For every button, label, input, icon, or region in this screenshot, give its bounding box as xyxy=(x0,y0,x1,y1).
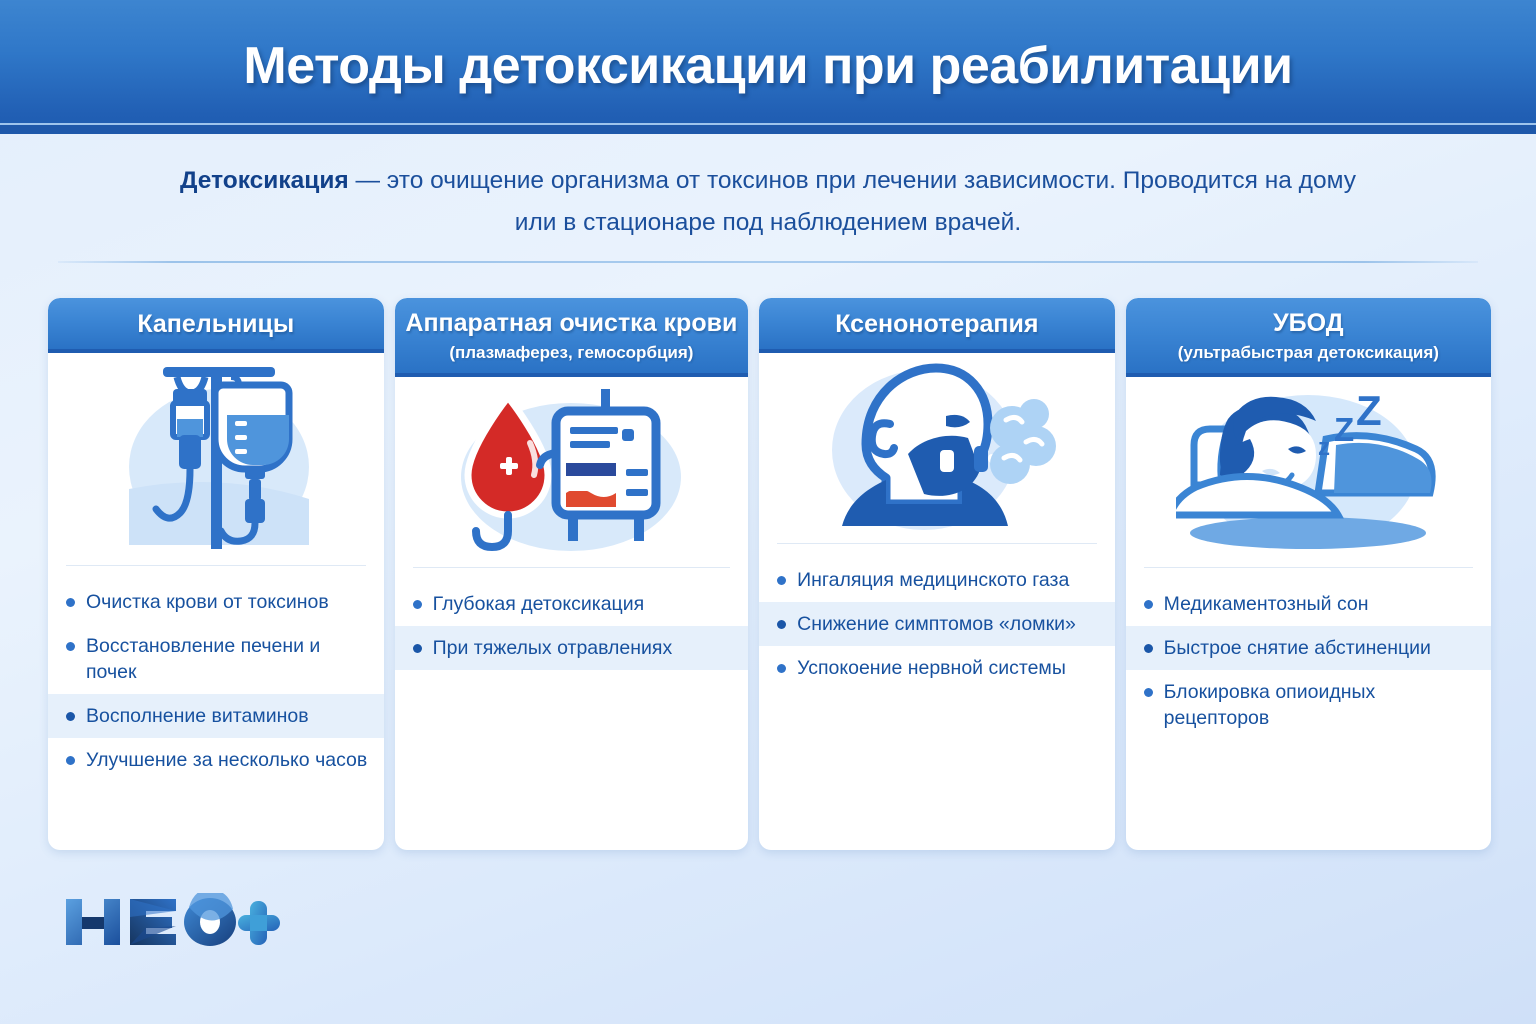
card-title: Капельницы xyxy=(58,308,374,340)
list-item: Успокоение нервной системы xyxy=(759,646,1114,690)
list-item: Восстановление печени и почек xyxy=(48,624,384,694)
intro-body-text: — это очищение организма от токсинов при… xyxy=(349,167,1356,236)
bullet-dot-icon xyxy=(777,576,786,585)
card-header: Капельницы xyxy=(48,298,384,353)
bullet-dot-icon xyxy=(66,598,75,607)
bullet-dot-icon xyxy=(777,620,786,629)
brand-logo xyxy=(62,893,294,951)
list-item: Блокировка опиоидных рецепторов xyxy=(1126,670,1491,740)
card-title: Ксенонотерапия xyxy=(769,308,1104,340)
bullet-dot-icon xyxy=(1144,688,1153,697)
card-header: Аппаратная очистка крови (плазмаферез, г… xyxy=(395,298,749,377)
card-icon-area xyxy=(759,353,1114,543)
list-item: Ингаляция медицинското газа xyxy=(759,558,1114,602)
oxygen-mask-inhalation-icon xyxy=(812,358,1062,538)
list-item: Медикаментозный сон xyxy=(1126,582,1491,626)
bullet-dot-icon xyxy=(413,644,422,653)
list-item: При тяжелых отравлениях xyxy=(395,626,749,670)
bullet-dot-icon xyxy=(1144,600,1153,609)
list-item-label: При тяжелых отравлениях xyxy=(433,635,673,661)
page-header-banner: Методы детоксикации при реабилитации xyxy=(0,0,1536,134)
card-header: УБОД (ультрабыстрая детоксикация) xyxy=(1126,298,1491,377)
intro-divider xyxy=(58,261,1478,263)
page-title: Методы детоксикации при реабилитации xyxy=(0,36,1536,96)
card-subtitle: (ультрабыстрая детоксикация) xyxy=(1134,340,1483,365)
card-icon-area xyxy=(48,353,384,565)
list-item: Снижение симптомов «ломки» xyxy=(759,602,1114,646)
list-item: Глубокая детоксикация xyxy=(395,582,749,626)
card-bullet-list: Глубокая детоксикация При тяжелых отравл… xyxy=(395,568,749,850)
list-item-label: Восстановление печени и почек xyxy=(86,633,368,685)
card-header: Ксенонотерапия xyxy=(759,298,1114,353)
bullet-dot-icon xyxy=(66,756,75,765)
list-item-label: Успокоение нервной системы xyxy=(797,655,1066,681)
list-item-label: Снижение симптомов «ломки» xyxy=(797,611,1076,637)
iv-drip-icon xyxy=(111,359,321,559)
bullet-dot-icon xyxy=(1144,644,1153,653)
list-item-label: Глубокая детоксикация xyxy=(433,591,645,617)
card-title: Аппаратная очистка крови xyxy=(403,307,741,339)
method-card-kapelnitsy[interactable]: Капельницы xyxy=(48,298,384,850)
list-item-label: Восполнение витаминов xyxy=(86,703,309,729)
method-card-ubod[interactable]: УБОД (ультрабыстрая детоксикация) z xyxy=(1126,298,1491,850)
list-item-label: Ингаляция медицинското газа xyxy=(797,567,1069,593)
intro-paragraph: Детоксикация — это очищение организма от… xyxy=(168,160,1368,244)
bullet-dot-icon xyxy=(66,712,75,721)
list-item: Улучшение за несколько часов xyxy=(48,738,384,782)
card-bullet-list: Ингаляция медицинското газа Снижение сим… xyxy=(759,544,1114,850)
blood-purification-machine-icon xyxy=(446,385,696,560)
list-item: Восполнение витаминов xyxy=(48,694,384,738)
bullet-dot-icon xyxy=(413,600,422,609)
svg-text:z: z xyxy=(1318,434,1330,461)
list-item-label: Очистка крови от токсинов xyxy=(86,589,329,615)
list-item: Быстрое снятие абстиненции xyxy=(1126,626,1491,670)
card-bullet-list: Медикаментозный сон Быстрое снятие абсти… xyxy=(1126,568,1491,850)
neo-plus-logo-icon xyxy=(62,893,294,951)
card-title: УБОД xyxy=(1134,307,1483,339)
method-card-ksenonoterapiya[interactable]: Ксенонотерапия xyxy=(759,298,1114,850)
list-item-label: Блокировка опиоидных рецепторов xyxy=(1164,679,1475,731)
card-subtitle: (плазмаферез, гемосорбция) xyxy=(403,340,741,365)
list-item-label: Улучшение за несколько часов xyxy=(86,747,367,773)
bullet-dot-icon xyxy=(777,664,786,673)
bullet-dot-icon xyxy=(66,642,75,651)
card-icon-area: z Z Z xyxy=(1126,377,1491,567)
card-icon-area xyxy=(395,377,749,567)
list-item-label: Медикаментозный сон xyxy=(1164,591,1369,617)
svg-text:Z: Z xyxy=(1356,387,1382,434)
method-card-row: Капельницы xyxy=(48,298,1491,850)
sleeping-patient-icon: z Z Z xyxy=(1176,383,1441,561)
card-bullet-list: Очистка крови от токсинов Восстановление… xyxy=(48,566,384,850)
list-item: Очистка крови от токсинов xyxy=(48,580,384,624)
intro-lead-term: Детоксикация xyxy=(180,167,349,194)
svg-text:Z: Z xyxy=(1334,411,1354,448)
method-card-apparatnaya-ochistka-krovi[interactable]: Аппаратная очистка крови (плазмаферез, г… xyxy=(395,298,749,850)
list-item-label: Быстрое снятие абстиненции xyxy=(1164,635,1431,661)
